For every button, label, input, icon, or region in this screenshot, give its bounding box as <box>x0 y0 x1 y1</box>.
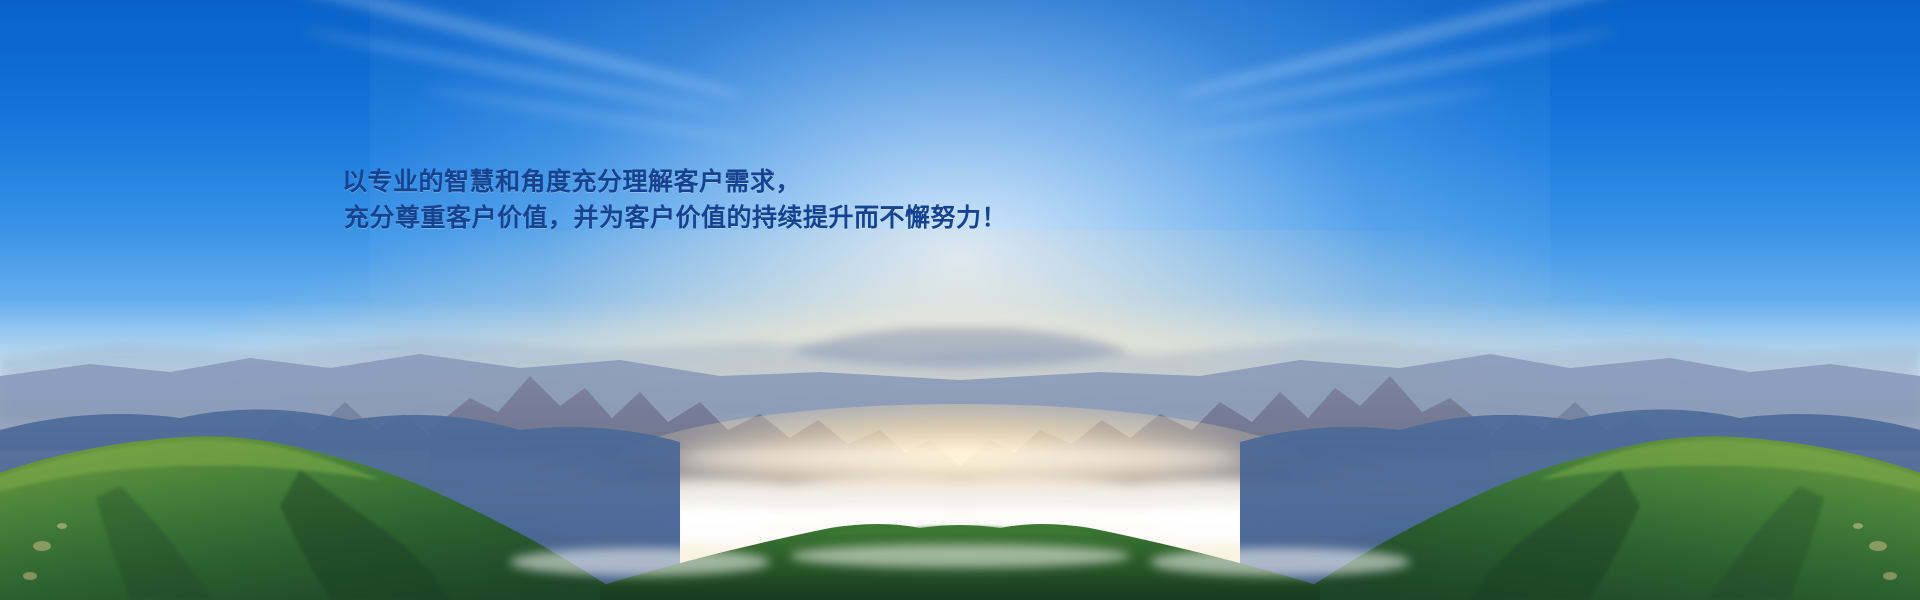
hero-banner: 以专业的智慧和角度充分理解客户需求， 充分尊重客户价值，并为客户价值的持续提升而… <box>0 0 1920 600</box>
headline-line-2: 充分尊重客户价值，并为客户价值的持续提升而不懈努力！ <box>342 200 1007 236</box>
headline-block: 以专业的智慧和角度充分理解客户需求， 充分尊重客户价值，并为客户价值的持续提升而… <box>342 164 1007 236</box>
sky-gradient <box>0 0 1920 600</box>
headline-line-1: 以专业的智慧和角度充分理解客户需求， <box>342 164 1007 200</box>
